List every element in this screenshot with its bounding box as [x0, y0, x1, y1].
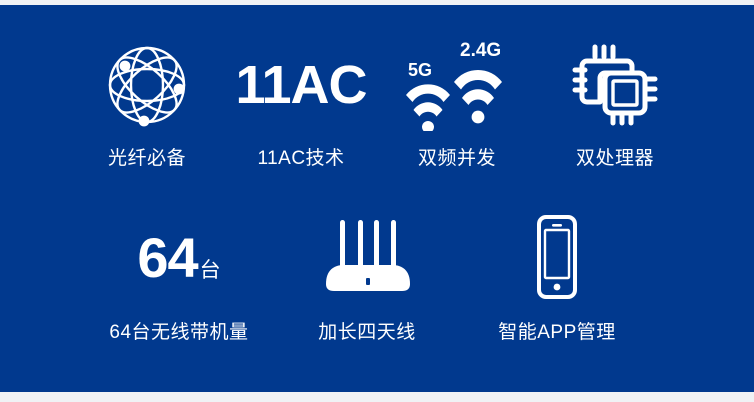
feature-row-1: 光纤必备 11AC 11AC技术: [0, 35, 754, 170]
feature-row-2: 64 台 64台无线带机量 加长四天: [0, 210, 754, 344]
feature-label: 11AC技术: [257, 143, 344, 170]
feature-item-dual-band[interactable]: 2.4G 5G 双频并发: [382, 35, 532, 170]
device-count-number: 64 台: [137, 210, 220, 305]
feature-item-app-management[interactable]: 智能APP管理: [472, 210, 642, 344]
feature-item-device-count[interactable]: 64 台 64台无线带机量: [94, 210, 264, 344]
feature-label: 加长四天线: [318, 317, 416, 344]
text-11ac: 11AC: [235, 35, 366, 135]
headline-11ac: 11AC: [235, 58, 366, 112]
bottom-edge-strip: [0, 392, 754, 402]
feature-item-fiber[interactable]: 光纤必备: [72, 35, 222, 170]
feature-label: 双频并发: [418, 143, 496, 170]
feature-label: 64台无线带机量: [109, 317, 248, 344]
feature-label: 光纤必备: [108, 143, 186, 170]
band-label-low: 5G: [408, 60, 432, 80]
network-globe-icon: [104, 35, 190, 135]
device-count-value: 64: [137, 230, 197, 286]
smartphone-icon: [527, 210, 587, 305]
feature-item-four-antenna[interactable]: 加长四天线: [282, 210, 452, 344]
dual-processor-chip-icon: [571, 35, 659, 135]
dual-band-wifi-icon: 2.4G 5G: [402, 35, 512, 135]
feature-label: 双处理器: [576, 143, 654, 170]
router-four-antenna-icon: [312, 210, 422, 305]
device-count-unit: 台: [200, 260, 221, 281]
product-feature-banner: 光纤必备 11AC 11AC技术: [0, 5, 754, 392]
feature-item-11ac[interactable]: 11AC 11AC技术: [226, 35, 376, 170]
feature-label: 智能APP管理: [498, 317, 616, 344]
feature-item-dual-processor[interactable]: 双处理器: [540, 35, 690, 170]
band-label-high: 2.4G: [460, 40, 501, 61]
